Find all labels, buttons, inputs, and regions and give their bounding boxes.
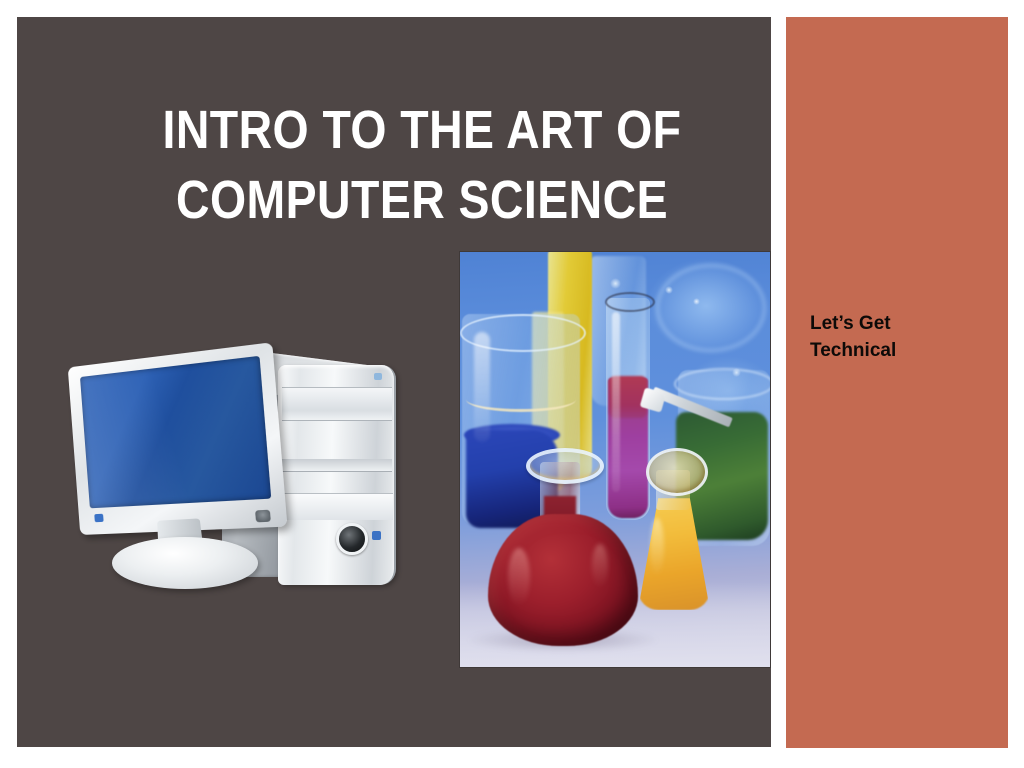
tower-drive-bay-slot: [282, 459, 392, 472]
tower-lower-bay: [281, 493, 393, 520]
monitor-stand-base: [112, 537, 258, 589]
monitor-screen: [80, 356, 271, 509]
background-glass-ring: [656, 264, 766, 352]
computer-illustration: [72, 339, 412, 607]
page-title: Intro to the Art of Computer Science: [125, 95, 718, 235]
monitor-bezel: [68, 342, 288, 535]
glass-highlight: [650, 518, 664, 576]
light-sparkle: [665, 286, 673, 294]
green-beaker-rim: [674, 368, 770, 400]
glass-highlight: [508, 548, 530, 606]
light-sparkle: [693, 298, 700, 305]
glass-highlight: [592, 544, 608, 588]
monitor-led-icon: [94, 514, 103, 523]
tower-drive-bay: [282, 387, 392, 421]
amber-flask-rim: [646, 448, 708, 496]
power-led-icon: [372, 531, 381, 540]
chemistry-photo: [460, 252, 770, 667]
glass-highlight: [612, 312, 620, 492]
glass-highlight: [474, 332, 490, 442]
presentation-slide: Intro to the Art of Computer Science: [0, 0, 1024, 768]
purple-test-tube-rim: [605, 292, 655, 312]
red-flask-rim: [526, 448, 604, 484]
power-button-icon: [336, 523, 368, 555]
sidebar-panel: Let’s Get Technical: [786, 17, 1008, 748]
main-content-panel: Intro to the Art of Computer Science: [17, 17, 771, 747]
monitor-icon: [74, 367, 290, 587]
screen-glare: [80, 356, 215, 509]
monitor-logo-icon: [255, 510, 271, 523]
sidebar-subtitle: Let’s Get Technical: [810, 311, 980, 365]
tower-indicator-led: [374, 373, 382, 380]
